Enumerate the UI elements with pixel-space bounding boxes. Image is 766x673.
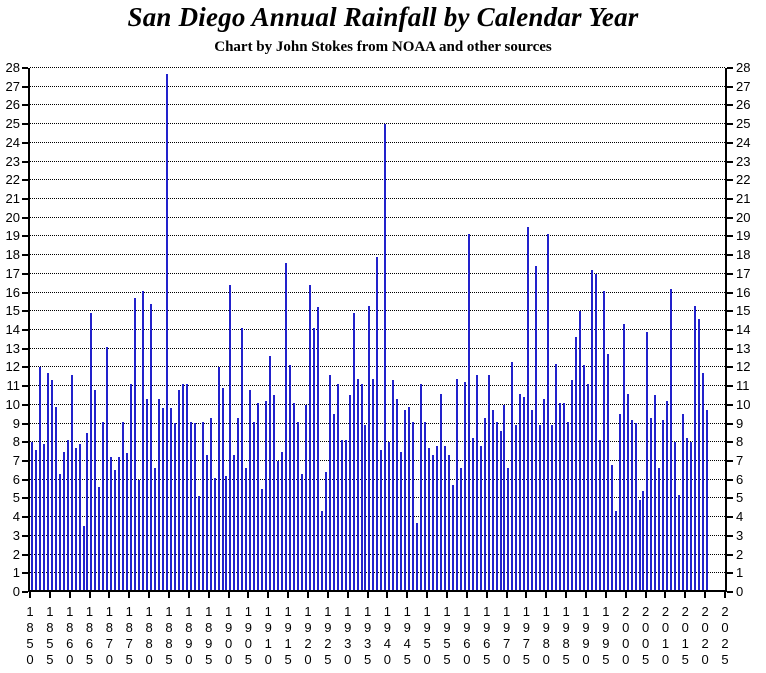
bar bbox=[345, 440, 347, 590]
x-axis-label: 1990 bbox=[579, 604, 593, 668]
y-axis-label-right: 21 bbox=[736, 192, 762, 205]
bar bbox=[567, 422, 569, 590]
x-axis-tick bbox=[327, 592, 329, 598]
bar bbox=[35, 450, 37, 590]
y-axis-tick-left bbox=[22, 104, 28, 106]
y-axis-label-right: 7 bbox=[736, 454, 762, 467]
x-axis-label-digit: 5 bbox=[440, 636, 454, 652]
x-axis-label-digit: 1 bbox=[361, 604, 375, 620]
bar bbox=[555, 364, 557, 590]
y-axis-tick-left bbox=[22, 516, 28, 518]
x-axis-label-digit: 9 bbox=[519, 620, 533, 636]
x-axis-label: 1935 bbox=[361, 604, 375, 668]
bar bbox=[631, 420, 633, 590]
bar bbox=[198, 496, 200, 590]
bar bbox=[368, 306, 370, 590]
y-axis-tick-left bbox=[22, 479, 28, 481]
bar bbox=[500, 431, 502, 590]
bar bbox=[233, 455, 235, 590]
x-axis-label-digit: 0 bbox=[341, 652, 355, 668]
x-axis-label-digit: 5 bbox=[519, 652, 533, 668]
bar bbox=[527, 227, 529, 590]
bar bbox=[210, 418, 212, 590]
x-axis-label-digit: 8 bbox=[142, 636, 156, 652]
y-axis-label-right: 11 bbox=[736, 379, 762, 392]
y-axis-tick-right bbox=[727, 292, 733, 294]
x-axis-label-digit: 9 bbox=[241, 620, 255, 636]
bar bbox=[543, 399, 545, 590]
bar bbox=[202, 422, 204, 590]
bar bbox=[682, 414, 684, 590]
bar bbox=[480, 446, 482, 590]
x-axis-label-digit: 2 bbox=[718, 604, 732, 620]
bar bbox=[519, 394, 521, 591]
x-axis-tick bbox=[247, 592, 249, 598]
x-axis-tick bbox=[267, 592, 269, 598]
bar bbox=[289, 365, 291, 590]
y-axis-label-right: 14 bbox=[736, 323, 762, 336]
y-axis-tick-left bbox=[22, 161, 28, 163]
bar bbox=[321, 511, 323, 590]
x-axis-label-digit: 9 bbox=[500, 620, 514, 636]
bar bbox=[424, 422, 426, 590]
bar bbox=[488, 375, 490, 590]
bar bbox=[178, 390, 180, 590]
x-axis-label: 1860 bbox=[63, 604, 77, 668]
y-axis-label-left: 18 bbox=[0, 248, 20, 261]
bar bbox=[162, 408, 164, 590]
x-axis-label-digit: 9 bbox=[321, 620, 335, 636]
x-axis-label: 1970 bbox=[500, 604, 514, 668]
x-axis-label-digit: 9 bbox=[599, 620, 613, 636]
y-axis-tick-right bbox=[727, 235, 733, 237]
x-axis-tick bbox=[565, 592, 567, 598]
x-axis-label-digit: 9 bbox=[579, 636, 593, 652]
bar bbox=[222, 388, 224, 590]
bar bbox=[702, 373, 704, 590]
x-axis-label-digit: 0 bbox=[23, 652, 37, 668]
y-axis-label-right: 10 bbox=[736, 398, 762, 411]
y-axis-tick-left bbox=[22, 254, 28, 256]
x-axis-label: 1915 bbox=[281, 604, 295, 668]
x-axis-label: 1895 bbox=[202, 604, 216, 668]
bar bbox=[404, 410, 406, 590]
y-axis-label-left: 20 bbox=[0, 211, 20, 224]
bar bbox=[31, 442, 33, 590]
y-axis-tick-right bbox=[727, 142, 733, 144]
bar bbox=[396, 399, 398, 590]
x-axis-tick bbox=[625, 592, 627, 598]
bar bbox=[130, 384, 132, 590]
x-axis-label-digit: 1 bbox=[142, 604, 156, 620]
x-axis-label: 1885 bbox=[162, 604, 176, 668]
y-axis-label-right: 1 bbox=[736, 566, 762, 579]
bar bbox=[281, 452, 283, 590]
y-axis-label-right: 0 bbox=[736, 585, 762, 598]
x-axis-label-digit: 2 bbox=[301, 636, 315, 652]
x-axis-label-digit: 1 bbox=[162, 604, 176, 620]
bar bbox=[432, 455, 434, 590]
bar bbox=[388, 442, 390, 590]
x-axis-label-digit: 0 bbox=[222, 652, 236, 668]
bar bbox=[571, 380, 573, 590]
y-axis-label-right: 19 bbox=[736, 229, 762, 242]
x-axis-tick bbox=[724, 592, 726, 598]
bar bbox=[639, 500, 641, 590]
x-axis-label: 1955 bbox=[440, 604, 454, 668]
bar bbox=[150, 304, 152, 590]
x-axis-label-digit: 0 bbox=[619, 636, 633, 652]
x-axis-tick bbox=[29, 592, 31, 598]
y-axis-label-left: 21 bbox=[0, 192, 20, 205]
bar bbox=[261, 489, 263, 590]
bar bbox=[642, 491, 644, 590]
chart-title: San Diego Annual Rainfall by Calendar Ye… bbox=[0, 2, 766, 33]
x-axis-label-digit: 2 bbox=[321, 636, 335, 652]
x-axis-label-digit: 1 bbox=[678, 636, 692, 652]
y-axis-label-right: 27 bbox=[736, 80, 762, 93]
bar bbox=[106, 347, 108, 590]
y-axis-tick-right bbox=[727, 423, 733, 425]
bar bbox=[79, 444, 81, 590]
x-axis-label-digit: 0 bbox=[619, 652, 633, 668]
bar bbox=[353, 313, 355, 590]
y-axis-tick-left bbox=[22, 348, 28, 350]
y-axis-label-right: 28 bbox=[736, 61, 762, 74]
x-axis-label: 2025 bbox=[718, 604, 732, 668]
x-axis-label-digit: 5 bbox=[678, 652, 692, 668]
bar bbox=[71, 375, 73, 590]
bar bbox=[98, 487, 100, 590]
y-axis-label-left: 11 bbox=[0, 379, 20, 392]
bar bbox=[472, 438, 474, 590]
bar bbox=[670, 289, 672, 590]
bar bbox=[492, 410, 494, 590]
x-axis-label-digit: 0 bbox=[718, 620, 732, 636]
y-axis-label-right: 18 bbox=[736, 248, 762, 261]
bar bbox=[253, 422, 255, 590]
x-axis-tick bbox=[506, 592, 508, 598]
bar bbox=[579, 311, 581, 590]
x-axis-label-digit: 1 bbox=[202, 604, 216, 620]
bar bbox=[551, 425, 553, 590]
x-axis-label-digit: 0 bbox=[658, 652, 672, 668]
bar bbox=[706, 410, 708, 590]
x-axis-label-digit: 2 bbox=[678, 604, 692, 620]
x-axis-label-digit: 8 bbox=[162, 636, 176, 652]
bar bbox=[690, 442, 692, 590]
x-axis-tick bbox=[585, 592, 587, 598]
bar bbox=[507, 468, 509, 590]
y-axis-tick-right bbox=[727, 460, 733, 462]
x-axis-label-digit: 5 bbox=[639, 652, 653, 668]
y-axis-label-left: 16 bbox=[0, 286, 20, 299]
bar bbox=[39, 367, 41, 590]
y-axis-label-right: 5 bbox=[736, 491, 762, 504]
y-axis-tick-right bbox=[727, 366, 733, 368]
bar bbox=[297, 422, 299, 590]
y-axis-label-left: 13 bbox=[0, 342, 20, 355]
bar bbox=[650, 418, 652, 590]
x-axis-label-digit: 3 bbox=[361, 636, 375, 652]
x-axis-label-digit: 1 bbox=[380, 604, 394, 620]
y-axis-label-left: 17 bbox=[0, 267, 20, 280]
x-axis-label-digit: 9 bbox=[539, 620, 553, 636]
y-axis-tick-left bbox=[22, 217, 28, 219]
y-axis-label-right: 20 bbox=[736, 211, 762, 224]
bar bbox=[146, 399, 148, 590]
x-axis-label: 1865 bbox=[83, 604, 97, 668]
y-axis-tick-right bbox=[727, 404, 733, 406]
x-axis-label-digit: 8 bbox=[102, 620, 116, 636]
bar bbox=[218, 367, 220, 590]
x-axis-label-digit: 7 bbox=[500, 636, 514, 652]
y-axis-label-left: 24 bbox=[0, 136, 20, 149]
x-axis-label: 1870 bbox=[102, 604, 116, 668]
x-axis-tick bbox=[228, 592, 230, 598]
bar bbox=[531, 410, 533, 590]
x-axis-label-digit: 9 bbox=[301, 620, 315, 636]
x-axis-label: 2020 bbox=[698, 604, 712, 668]
x-axis-tick bbox=[49, 592, 51, 598]
bar bbox=[674, 442, 676, 590]
y-axis-label-left: 9 bbox=[0, 417, 20, 430]
bar bbox=[126, 453, 128, 590]
y-axis-tick-left bbox=[22, 441, 28, 443]
y-axis-tick-right bbox=[727, 104, 733, 106]
y-axis-tick-left bbox=[22, 67, 28, 69]
bar bbox=[55, 407, 57, 590]
x-axis-label-digit: 5 bbox=[321, 652, 335, 668]
bar bbox=[468, 234, 470, 590]
x-axis-label-digit: 1 bbox=[43, 604, 57, 620]
bar bbox=[515, 425, 517, 590]
x-axis-label-digit: 1 bbox=[102, 604, 116, 620]
bar bbox=[412, 422, 414, 590]
y-axis-tick-right bbox=[727, 591, 733, 593]
y-axis-label-right: 3 bbox=[736, 529, 762, 542]
x-axis-label-digit: 2 bbox=[639, 604, 653, 620]
y-axis-tick-left bbox=[22, 86, 28, 88]
x-axis-label-digit: 8 bbox=[539, 636, 553, 652]
chart-subtitle: Chart by John Stokes from NOAA and other… bbox=[0, 39, 766, 56]
bar bbox=[47, 373, 49, 590]
x-axis-label-digit: 1 bbox=[321, 604, 335, 620]
x-axis-label-digit: 9 bbox=[261, 620, 275, 636]
x-axis-label: 1960 bbox=[460, 604, 474, 668]
x-axis-label-digit: 0 bbox=[678, 620, 692, 636]
y-axis-tick-right bbox=[727, 497, 733, 499]
x-axis-label-digit: 8 bbox=[83, 620, 97, 636]
y-axis-tick-left bbox=[22, 497, 28, 499]
x-axis-label-digit: 8 bbox=[182, 620, 196, 636]
bar bbox=[619, 414, 621, 590]
bar bbox=[43, 444, 45, 590]
y-axis-label-left: 6 bbox=[0, 473, 20, 486]
bar bbox=[134, 298, 136, 590]
x-axis-label-digit: 8 bbox=[23, 620, 37, 636]
x-axis-label: 2010 bbox=[658, 604, 672, 668]
bar bbox=[539, 425, 541, 590]
x-axis-label-digit: 2 bbox=[718, 636, 732, 652]
x-axis-label-digit: 9 bbox=[380, 620, 394, 636]
bar bbox=[416, 523, 418, 590]
x-axis-label-digit: 0 bbox=[102, 652, 116, 668]
bar bbox=[154, 468, 156, 590]
bar bbox=[110, 457, 112, 590]
y-axis-tick-right bbox=[727, 516, 733, 518]
y-axis-tick-left bbox=[22, 385, 28, 387]
y-axis-tick-left bbox=[22, 292, 28, 294]
y-axis-label-right: 13 bbox=[736, 342, 762, 355]
bar bbox=[118, 457, 120, 590]
x-axis-tick bbox=[486, 592, 488, 598]
x-axis-label-digit: 0 bbox=[222, 636, 236, 652]
x-axis-label-digit: 9 bbox=[281, 620, 295, 636]
bar bbox=[249, 390, 251, 590]
y-axis-label-left: 28 bbox=[0, 61, 20, 74]
x-axis-label: 1985 bbox=[559, 604, 573, 668]
bar bbox=[559, 403, 561, 590]
bar bbox=[662, 420, 664, 590]
y-axis-label-right: 9 bbox=[736, 417, 762, 430]
x-axis-label-digit: 0 bbox=[63, 652, 77, 668]
bar bbox=[51, 380, 53, 590]
x-axis-label: 1920 bbox=[301, 604, 315, 668]
bar bbox=[563, 403, 565, 590]
x-axis-label-digit: 1 bbox=[301, 604, 315, 620]
x-axis-tick bbox=[545, 592, 547, 598]
x-axis-label-digit: 9 bbox=[341, 620, 355, 636]
plot-area bbox=[28, 68, 727, 592]
x-axis-label-digit: 9 bbox=[400, 620, 414, 636]
x-axis-label: 1980 bbox=[539, 604, 553, 668]
bar bbox=[349, 395, 351, 590]
bar bbox=[273, 395, 275, 590]
bar bbox=[484, 418, 486, 590]
x-axis-label-digit: 9 bbox=[361, 620, 375, 636]
y-axis-label-left: 23 bbox=[0, 155, 20, 168]
x-axis-tick bbox=[128, 592, 130, 598]
x-axis-label: 1905 bbox=[241, 604, 255, 668]
y-axis-tick-left bbox=[22, 273, 28, 275]
bar bbox=[341, 440, 343, 590]
x-axis-label-digit: 1 bbox=[23, 604, 37, 620]
bar bbox=[237, 418, 239, 590]
x-axis-label-digit: 6 bbox=[83, 636, 97, 652]
x-axis-label-digit: 5 bbox=[43, 652, 57, 668]
x-axis-tick bbox=[108, 592, 110, 598]
x-axis-label-digit: 8 bbox=[162, 620, 176, 636]
y-axis-tick-left bbox=[22, 554, 28, 556]
bar bbox=[523, 397, 525, 590]
y-axis-tick-left bbox=[22, 460, 28, 462]
bar bbox=[615, 511, 617, 590]
x-axis-tick bbox=[466, 592, 468, 598]
x-axis-label-digit: 1 bbox=[579, 604, 593, 620]
y-axis-tick-left bbox=[22, 142, 28, 144]
bar bbox=[265, 401, 267, 590]
bar bbox=[420, 384, 422, 590]
y-axis-label-right: 16 bbox=[736, 286, 762, 299]
bar bbox=[325, 472, 327, 590]
x-axis-label-digit: 5 bbox=[718, 652, 732, 668]
x-axis-label-digit: 0 bbox=[142, 652, 156, 668]
y-axis-tick-right bbox=[727, 535, 733, 537]
y-axis-label-right: 15 bbox=[736, 304, 762, 317]
x-axis-label-digit: 0 bbox=[380, 652, 394, 668]
x-axis-label-digit: 0 bbox=[420, 652, 434, 668]
bar bbox=[591, 270, 593, 590]
y-axis-label-left: 5 bbox=[0, 491, 20, 504]
bar bbox=[476, 375, 478, 590]
bar bbox=[686, 438, 688, 590]
x-axis-label-digit: 0 bbox=[539, 652, 553, 668]
bar bbox=[277, 461, 279, 590]
bar bbox=[440, 394, 442, 591]
bar bbox=[452, 485, 454, 590]
y-axis-label-right: 25 bbox=[736, 117, 762, 130]
bar bbox=[654, 395, 656, 590]
bar bbox=[337, 384, 339, 590]
bar bbox=[595, 274, 597, 590]
x-axis-label: 1850 bbox=[23, 604, 37, 668]
bar bbox=[86, 433, 88, 590]
bar bbox=[305, 405, 307, 590]
y-axis-label-left: 8 bbox=[0, 435, 20, 448]
y-axis-label-right: 23 bbox=[736, 155, 762, 168]
y-axis-tick-right bbox=[727, 86, 733, 88]
y-axis-label-left: 0 bbox=[0, 585, 20, 598]
bar bbox=[547, 234, 549, 590]
bar bbox=[599, 440, 601, 590]
bar bbox=[623, 324, 625, 590]
x-axis-label-digit: 1 bbox=[83, 604, 97, 620]
x-axis-label-digit: 3 bbox=[341, 636, 355, 652]
y-axis-tick-left bbox=[22, 179, 28, 181]
x-axis-label-digit: 1 bbox=[460, 604, 474, 620]
bar bbox=[408, 407, 410, 590]
x-axis-label: 1890 bbox=[182, 604, 196, 668]
bar bbox=[245, 468, 247, 590]
bar bbox=[63, 452, 65, 590]
x-axis-tick bbox=[446, 592, 448, 598]
x-axis-label-digit: 8 bbox=[202, 620, 216, 636]
bar bbox=[384, 124, 386, 590]
bar bbox=[75, 448, 77, 590]
x-axis-label-digit: 1 bbox=[500, 604, 514, 620]
bar bbox=[380, 450, 382, 590]
x-axis-label-digit: 8 bbox=[142, 620, 156, 636]
x-axis-label-digit: 7 bbox=[519, 636, 533, 652]
bar bbox=[285, 263, 287, 591]
bar bbox=[392, 380, 394, 590]
y-axis-tick-right bbox=[727, 198, 733, 200]
x-axis-label-digit: 9 bbox=[480, 620, 494, 636]
bar bbox=[206, 455, 208, 590]
bar bbox=[317, 307, 319, 590]
x-axis-label-digit: 0 bbox=[698, 620, 712, 636]
y-axis-label-left: 7 bbox=[0, 454, 20, 467]
x-axis-label: 2015 bbox=[678, 604, 692, 668]
y-axis-label-left: 3 bbox=[0, 529, 20, 542]
bar bbox=[138, 480, 140, 590]
bar bbox=[535, 266, 537, 590]
bar bbox=[313, 328, 315, 590]
x-axis-label-digit: 1 bbox=[281, 604, 295, 620]
x-axis-label: 1925 bbox=[321, 604, 335, 668]
y-axis-tick-left bbox=[22, 591, 28, 593]
